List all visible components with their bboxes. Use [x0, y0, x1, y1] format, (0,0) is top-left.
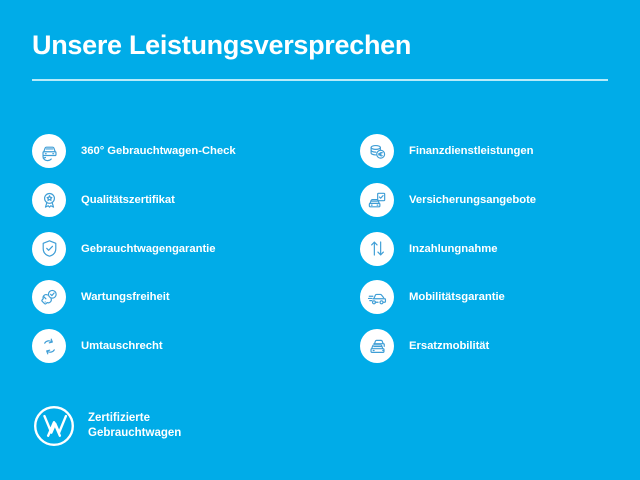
benefit-item-wartungsfreiheit: Wartungsfreiheit [32, 273, 360, 322]
benefit-item-inzahlungnahme: Inzahlungnahme [360, 224, 608, 273]
header: Unsere Leistungsversprechen [32, 28, 608, 81]
wrench-check-icon [32, 280, 66, 314]
leistungsversprechen-poster: Unsere Leistungsversprechen 360° Gebrauc… [0, 0, 640, 480]
benefit-label: Gebrauchtwagengarantie [81, 243, 216, 255]
exchange-arrows-icon [32, 329, 66, 363]
benefit-item-versicherungsangebote: Versicherungsangebote [360, 176, 608, 225]
benefit-item-qualitaetszertifikat: Qualitätszertifikat [32, 176, 360, 225]
benefit-item-gebrauchtwagengarantie: Gebrauchtwagengarantie [32, 224, 360, 273]
benefit-item-mobilitaetsgarantie: Mobilitätsgarantie [360, 273, 608, 322]
benefit-label: Wartungsfreiheit [81, 291, 170, 303]
header-divider [32, 79, 608, 81]
footer-line-1: Zertifizierte [88, 412, 150, 424]
quality-seal-icon [32, 183, 66, 217]
footer-text: Zertifizierte Gebrauchtwagen [88, 411, 181, 441]
benefit-item-gebrauchtwagen-check: 360° Gebrauchtwagen-Check [32, 127, 360, 176]
page-title: Unsere Leistungsversprechen [32, 28, 608, 62]
car-360-check-icon [32, 134, 66, 168]
benefit-label: Ersatzmobilität [409, 340, 489, 352]
benefit-label: Qualitätszertifikat [81, 194, 175, 206]
up-down-arrows-icon [360, 232, 394, 266]
benefit-label: Inzahlungnahme [409, 243, 497, 255]
two-cars-icon [360, 329, 394, 363]
benefit-label: Finanzdienstleistungen [409, 145, 533, 157]
benefit-item-finanzdienstleistungen: Finanzdienstleistungen [360, 127, 608, 176]
benefit-item-ersatzmobilitaet: Ersatzmobilität [360, 322, 608, 371]
benefit-item-umtauschrecht: Umtauschrecht [32, 322, 360, 371]
volkswagen-logo [32, 404, 76, 448]
benefit-label: Umtauschrecht [81, 340, 163, 352]
benefits-grid: 360° Gebrauchtwagen-Check Finanzdienstle… [32, 127, 608, 370]
footer-lockup: Zertifizierte Gebrauchtwagen [32, 404, 181, 448]
footer-line-2: Gebrauchtwagen [88, 427, 181, 439]
coins-euro-icon [360, 134, 394, 168]
benefit-label: Mobilitätsgarantie [409, 291, 505, 303]
benefit-label: Versicherungsangebote [409, 194, 536, 206]
shield-check-icon [32, 232, 66, 266]
car-motion-icon [360, 280, 394, 314]
benefit-label: 360° Gebrauchtwagen-Check [81, 145, 236, 157]
car-document-check-icon [360, 183, 394, 217]
